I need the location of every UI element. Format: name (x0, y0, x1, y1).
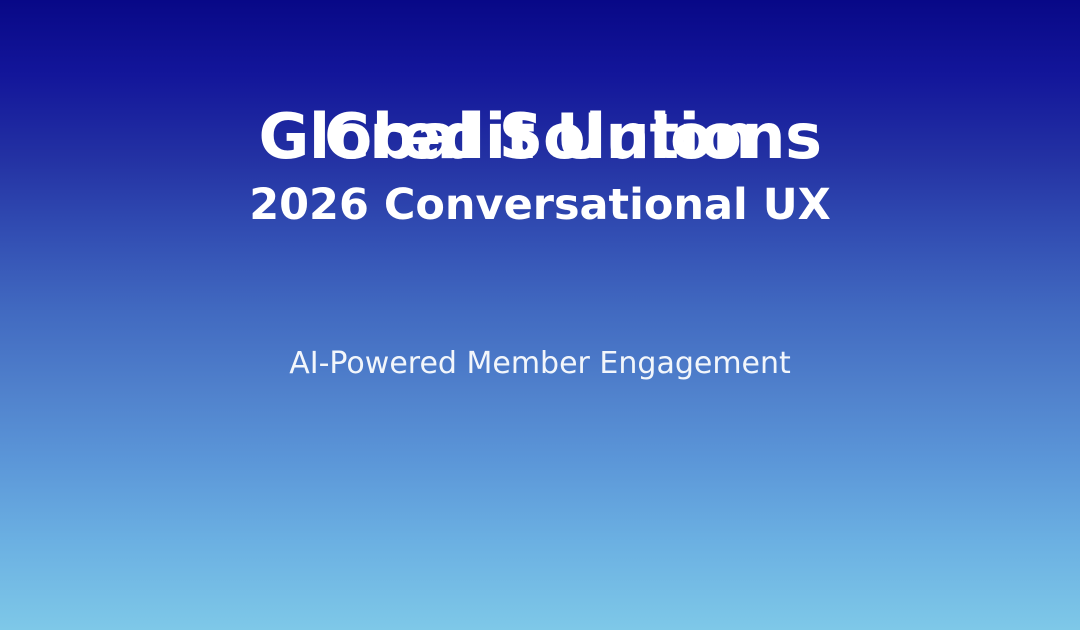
title-slide: Credit Union Global Solutions 2026 Conve… (0, 0, 1080, 630)
headline-overlay: Global Solutions (0, 101, 1080, 173)
headline-group: Credit Union Global Solutions (0, 101, 1080, 173)
slide-tagline: AI-Powered Member Engagement (0, 343, 1080, 385)
slide-subtitle: 2026 Conversational UX (0, 176, 1080, 234)
